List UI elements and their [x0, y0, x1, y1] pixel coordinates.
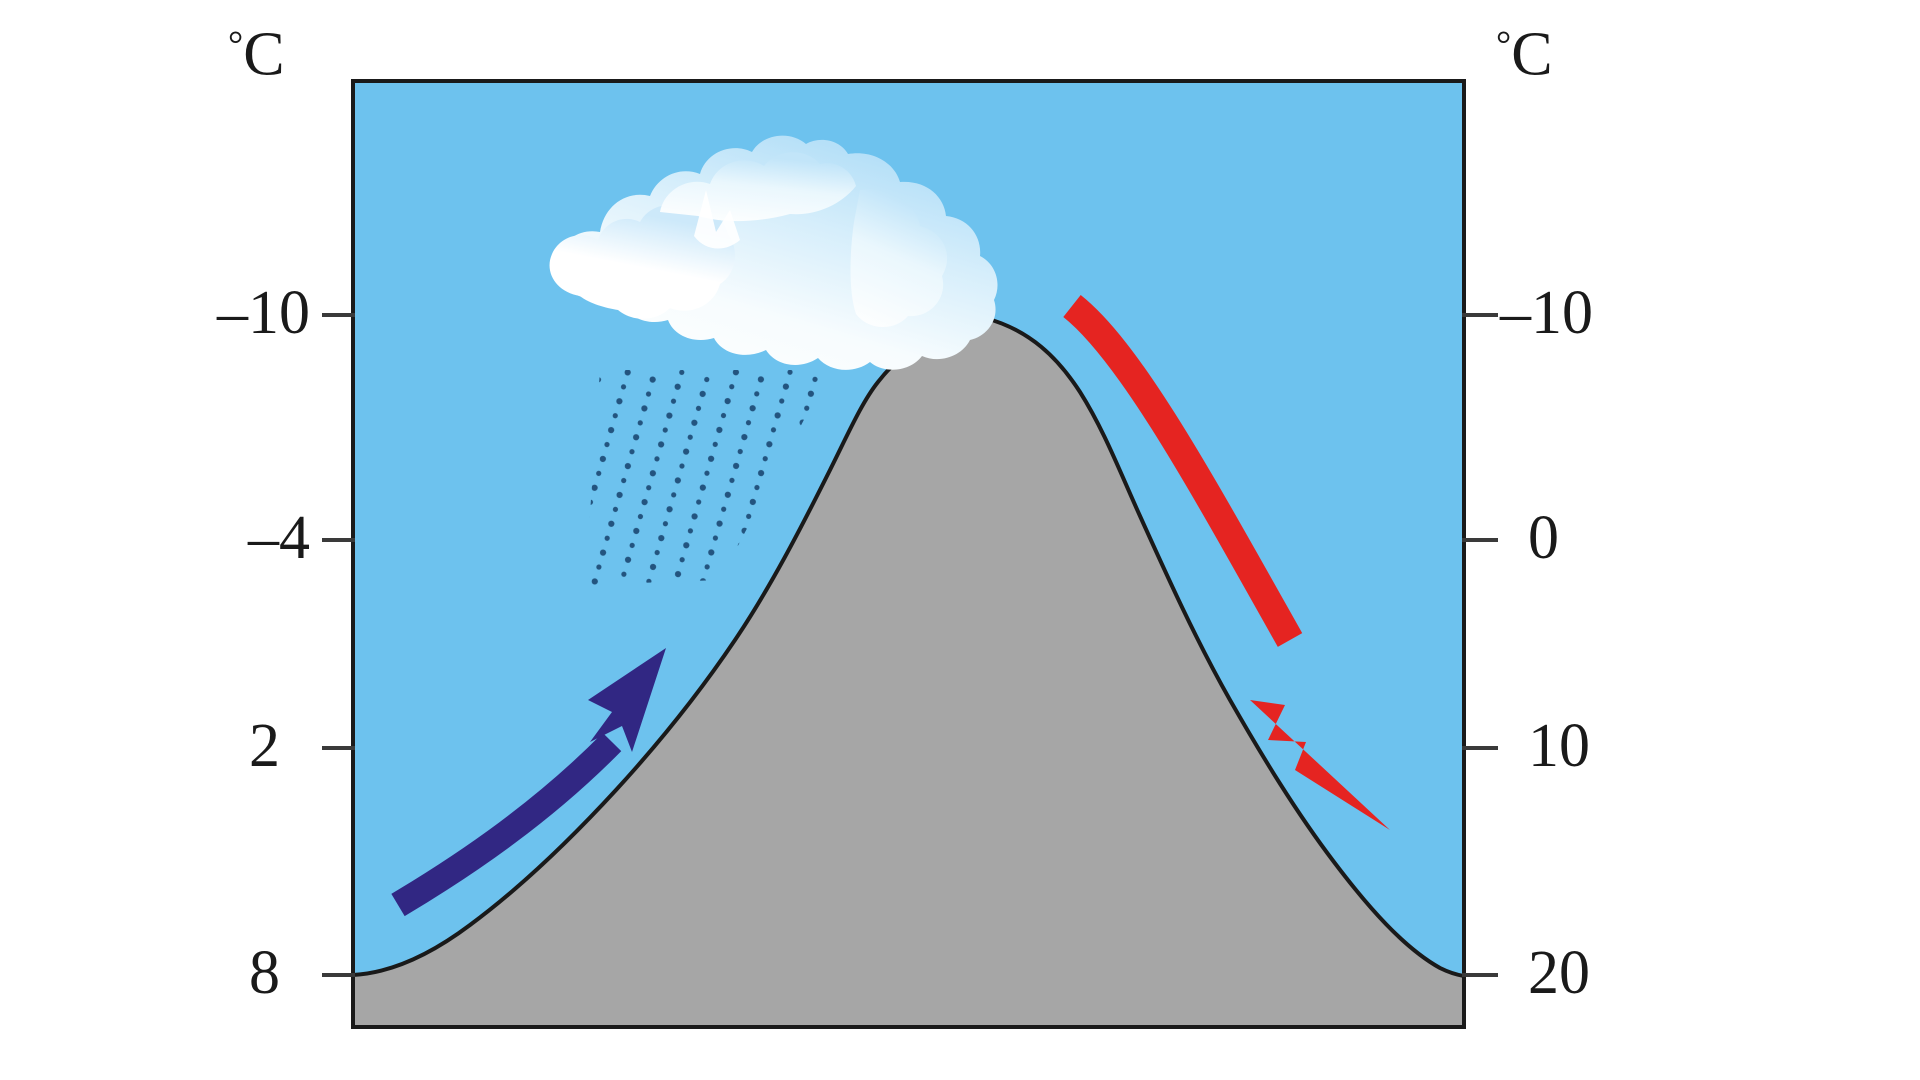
diagram-canvas: °C °C –10 –4 2 8 –10 0 10 20: [0, 0, 1920, 1080]
scene-svg: [0, 0, 1920, 1080]
right-axis-ticks: [1462, 315, 1498, 975]
left-axis-ticks: [322, 315, 355, 975]
